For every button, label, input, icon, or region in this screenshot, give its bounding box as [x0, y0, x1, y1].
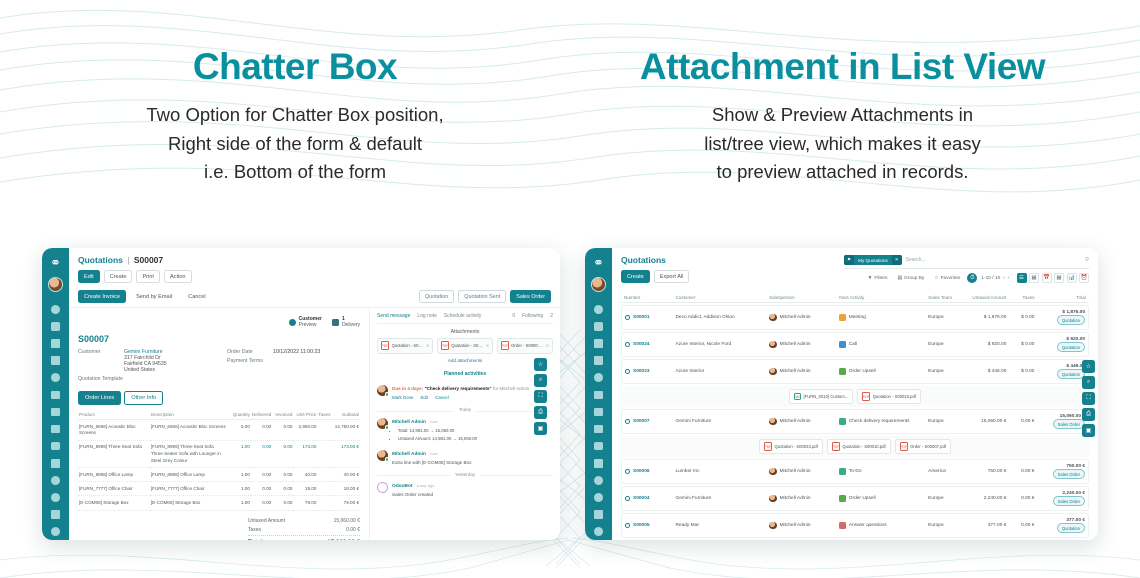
sidebar-icon-apps[interactable] — [51, 510, 60, 519]
tab-order-lines[interactable]: Order Lines — [78, 391, 121, 405]
attachment-chip[interactable]: PDF Quotation - S00023.pdf — [857, 389, 921, 404]
graph-view-icon[interactable]: 📊 — [1067, 273, 1077, 283]
row-number[interactable]: S00024 — [633, 342, 650, 347]
activity-actions: Mark Done Edit Cancel — [392, 394, 529, 401]
row-number[interactable]: S00001 — [633, 315, 650, 320]
row-untaxed: $ 920.00 — [963, 332, 1010, 357]
line-delivered: 0.00 — [251, 468, 272, 482]
message-body: Extra line with [E-COM08] Storage Box — [392, 459, 471, 466]
activity-view-icon[interactable]: ⏰ — [1079, 273, 1089, 283]
attachment-name: Quotation - S00023.pdf — [775, 444, 818, 449]
row-team: Europe — [925, 513, 962, 538]
attachment-name: Order - S00007.pdf — [511, 343, 543, 348]
row-checkbox[interactable] — [625, 523, 630, 528]
followers-count[interactable]: 0 — [512, 313, 515, 319]
customer-preview-smart-button[interactable]: Customer Preview — [289, 316, 322, 328]
todo-icon — [839, 468, 846, 475]
customer-address-line3: United States — [124, 367, 167, 373]
export-all-button[interactable]: Export All — [654, 270, 690, 283]
row-taxes: $ 0.00 — [1009, 305, 1037, 330]
grid-icon[interactable]: ▣ — [534, 422, 547, 435]
close-icon[interactable]: ✕ — [426, 343, 429, 348]
sidebar-icon-crm[interactable] — [51, 408, 60, 417]
sidebar-icon-recruitment[interactable] — [594, 493, 603, 502]
favorite-icon[interactable]: ☆ — [534, 358, 547, 371]
line-unit-price: 2,950.00 — [293, 420, 317, 441]
col-next-activity[interactable]: Next Activity — [836, 293, 925, 303]
field-quotation-template: Quotation Template — [78, 376, 211, 382]
field-customer: Customer Gemini Furniture 317 Fairchild … — [78, 349, 211, 373]
floating-action-buttons-right: ☆ ⌕ ⛶ ⎙ ▣ — [1082, 360, 1095, 437]
table-row[interactable]: S00004 Gemini Furniture Mitchell Admin O… — [621, 486, 1089, 511]
row-total-cell: 377.00 € Quotation — [1037, 513, 1089, 538]
row-salesperson-cell: Mitchell Admin — [766, 486, 836, 511]
row-checkbox[interactable] — [625, 369, 630, 374]
untaxed-amount-value: 15,060.00 € — [334, 518, 360, 524]
line-delivered: 0.00 — [251, 496, 272, 510]
list-toolbar: ▼ Filters ▤ Group By ☆ Favorites ⏱ 1-10 … — [844, 273, 1089, 283]
row-number[interactable]: S00005 — [633, 523, 650, 528]
activity-summary: "Check delivery requirements" — [424, 386, 491, 391]
sidebar-icon-settings[interactable] — [51, 527, 60, 536]
sidebar-icon-home[interactable] — [594, 305, 603, 314]
table-row[interactable]: [E-COM08] Storage Box [E-COM08] Storage … — [78, 496, 360, 510]
row-salesperson: Mitchell Admin — [780, 342, 811, 347]
call-icon — [839, 341, 846, 348]
row-activity-cell: Order Upsell — [836, 359, 925, 384]
line-subtotal: 173.00 € — [328, 441, 360, 468]
day-label: Today — [454, 407, 476, 412]
close-icon[interactable]: ✕ — [892, 255, 902, 265]
app-sidebar-right[interactable]: ⚭ — [585, 248, 612, 540]
sidebar-icon-settings[interactable] — [594, 527, 603, 536]
order-date-value[interactable]: 10/12/2022 11:00:23 — [273, 349, 320, 355]
order-lines-header-row: Product Description Quantity Delivered I… — [78, 409, 360, 420]
row-salesperson: Mitchell Admin — [780, 469, 811, 474]
sidebar-icon-crm[interactable] — [594, 408, 603, 417]
col-description[interactable]: Description — [150, 409, 230, 420]
row-untaxed: 377.00 € — [963, 513, 1010, 538]
avatar — [377, 418, 388, 429]
line-taxes — [317, 496, 328, 510]
attachment-chip[interactable]: PDF Order - S00007.pdf ✕ — [497, 338, 553, 354]
row-activity-cell: Check delivery requirements — [836, 409, 925, 434]
row-team: America — [925, 459, 962, 484]
clipboard-icon — [839, 418, 846, 425]
row-activity-cell: Order Upsell — [836, 486, 925, 511]
row-taxes: 0.00 € — [1009, 409, 1037, 434]
row-salesperson-cell: Mitchell Admin — [766, 459, 836, 484]
schedule-activity-button[interactable]: Schedule activity — [444, 313, 482, 319]
status-quotation-sent[interactable]: Quotation Sent — [458, 290, 506, 303]
row-checkbox[interactable] — [625, 496, 630, 501]
right-subtitle: Show & Preview Attachments in list/tree … — [585, 87, 1100, 187]
row-team: Europe — [925, 486, 962, 511]
tab-other-info[interactable]: Other Info — [124, 391, 163, 405]
user-avatar[interactable] — [591, 277, 606, 292]
pager-range[interactable]: 1-10 / 10 — [981, 276, 1000, 281]
upsell-icon — [839, 495, 846, 502]
activity-clock-icon[interactable]: ⏱ — [967, 273, 977, 283]
pager-prev-icon[interactable]: ‹ — [1003, 276, 1005, 281]
fullscreen-icon[interactable]: ⛶ — [534, 390, 547, 403]
customer-preview-icon — [289, 319, 296, 326]
sidebar-icon-recruitment[interactable] — [51, 493, 60, 502]
row-activity: Order Upsell — [849, 496, 876, 501]
total-label: Total — [248, 539, 262, 540]
attachment-cell: PDF Quotation - S00023.pdf PDF Quotation… — [621, 436, 1089, 457]
row-number-cell: S00023 — [621, 359, 672, 384]
fullscreen-icon[interactable]: ⛶ — [1082, 392, 1095, 405]
line-subtotal: 79.00 € — [328, 496, 360, 510]
col-total-status[interactable]: Total — [1037, 293, 1089, 303]
row-salesperson: Mitchell Admin — [780, 496, 811, 501]
sidebar-icon-home[interactable] — [51, 305, 60, 314]
row-activity: Check delivery requirements — [849, 419, 910, 424]
send-message-button[interactable]: Send message — [377, 313, 410, 319]
row-number-cell: S00024 — [621, 332, 672, 357]
col-sales-team[interactable]: Sales Team — [925, 293, 962, 303]
line-quantity: 5.00 — [230, 420, 251, 441]
user-avatar[interactable] — [48, 277, 63, 292]
planned-activities-title: Planned activities — [377, 371, 553, 377]
close-icon[interactable]: ✕ — [546, 343, 549, 348]
table-row[interactable]: S00001 Deco Addict, Addison Olson Mitche… — [621, 305, 1089, 330]
followers-number[interactable]: 2 — [550, 313, 553, 319]
line-taxes — [317, 420, 328, 441]
sidebar-icon-employees[interactable] — [51, 476, 60, 485]
group-icon: ▤ — [897, 276, 902, 281]
delivery-icon — [332, 319, 339, 326]
order-totals: Untaxed Amount 15,060.00 € Taxes 0.00 € … — [78, 517, 360, 541]
line-quantity: 1.00 — [230, 482, 251, 496]
attachment-name: [FURN_0010] Custom... — [804, 394, 849, 399]
pivot-view-icon[interactable]: ▦ — [1054, 273, 1064, 283]
table-row[interactable]: S00005 Ready Mat Mitchell Admin Answer q… — [621, 513, 1089, 538]
message-bullets: Total: 14,981.00 → 15,060.00 Untaxed Amo… — [398, 427, 477, 442]
avatar — [769, 495, 777, 503]
col-taxes[interactable]: Taxes — [1009, 293, 1037, 303]
status-sales-order[interactable]: Sales Order — [510, 290, 551, 303]
pdf-icon: PDF — [441, 341, 449, 350]
following-button[interactable]: Following — [522, 313, 543, 319]
sheet-and-chatter: Customer Preview 1 Delivery S00007 Custo… — [69, 308, 560, 540]
list-scroll-area[interactable]: Number Customer Salesperson Next Activit… — [612, 287, 1098, 540]
row-number[interactable]: S00023 — [633, 369, 650, 374]
status-dot-icon — [385, 392, 390, 397]
table-row[interactable]: S00023 Azure Interior Mitchell Admin Ord… — [621, 359, 1089, 384]
form-screenshot-window: ⚭ Quotations | S00007 Edit Create Print … — [42, 248, 560, 540]
row-activity: Answer questions — [849, 523, 887, 528]
col-number[interactable]: Number — [621, 293, 672, 303]
sidebar-icon-apps[interactable] — [594, 510, 603, 519]
row-checkbox[interactable] — [625, 342, 630, 347]
sidebar-icon-invoicing[interactable] — [594, 339, 603, 348]
grid-icon[interactable]: ▣ — [1082, 424, 1095, 437]
attachment-chip[interactable]: PDF Quotation - S00023.pdf — [759, 439, 823, 454]
calendar-view-icon[interactable]: 📅 — [1042, 273, 1052, 283]
kanban-view-icon[interactable]: ▦ — [1029, 273, 1039, 283]
row-number-cell: S00006 — [621, 459, 672, 484]
avatar — [769, 341, 777, 349]
breadcrumb-parent[interactable]: Quotations — [78, 255, 123, 265]
col-taxes[interactable]: Taxes — [317, 409, 328, 420]
col-product[interactable]: Product — [78, 409, 150, 420]
untaxed-amount-row: Untaxed Amount 15,060.00 € — [248, 517, 360, 526]
filters-label: Filters — [874, 276, 887, 281]
log-note-button[interactable]: Log note — [417, 313, 436, 319]
sidebar-icon-timesheets[interactable] — [594, 442, 603, 451]
action-button[interactable]: Action — [164, 270, 192, 283]
sidebar-icon-purchase[interactable] — [594, 373, 603, 382]
activity-assignee: for Mitchell Admin — [493, 386, 529, 391]
sidebar-icon-projects[interactable] — [51, 425, 60, 434]
search-and-toolbar: ⚑ My Quotations ✕ Search... ⚲ ▼ Filters … — [844, 255, 1089, 283]
attachment-chip[interactable]: PDF Quotation - S00023.pdf ✕ — [377, 338, 433, 354]
quotation-template-label: Quotation Template — [78, 376, 123, 382]
row-untaxed: 2,240.00 € — [963, 486, 1010, 511]
sidebar-icon-projects[interactable] — [594, 425, 603, 434]
chatter-message: Mitchell Admin now Total: 14,981.00 → 15… — [377, 418, 553, 442]
row-team: Europe — [925, 305, 962, 330]
notebook-tabs: Order Lines Other Info — [78, 391, 360, 405]
sidebar-icon-sales[interactable] — [51, 322, 60, 331]
row-customer: Azure Interior, Nicole Ford — [672, 332, 766, 357]
row-taxes: $ 0.00 — [1009, 332, 1037, 357]
row-customer: Azure Interior — [672, 359, 766, 384]
total-value: 15,060.00 € — [327, 539, 360, 540]
search-icon[interactable]: ⚲ — [1085, 257, 1089, 263]
create-button[interactable]: Create — [621, 270, 650, 283]
col-delivered[interactable]: Delivered — [251, 409, 272, 420]
row-activity: To-Do — [849, 469, 862, 474]
pdf-icon: PDF — [764, 442, 772, 451]
sidebar-icon-manufacturing[interactable] — [594, 391, 603, 400]
status-dot-icon — [385, 457, 390, 462]
attachments-title: Attachments — [377, 329, 553, 335]
pager-next-icon[interactable]: › — [1008, 276, 1010, 281]
delivery-smart-button[interactable]: 1 Delivery — [332, 316, 360, 328]
row-untaxed: $ 446.00 — [963, 359, 1010, 384]
edit-activity-button[interactable]: Edit — [420, 394, 428, 401]
left-title: Chatter Box — [40, 0, 550, 87]
table-row[interactable]: S00006 Lumber Inc Mitchell Admin To-Do A… — [621, 459, 1089, 484]
row-total-cell: 750.00 € Sales Order — [1037, 459, 1089, 484]
breadcrumb-separator: | — [127, 255, 129, 265]
edit-button[interactable]: Edit — [78, 270, 100, 283]
bot-avatar — [377, 482, 388, 493]
app-sidebar-left[interactable]: ⚭ — [42, 248, 69, 540]
avatar — [769, 418, 777, 426]
order-date-label: Order Date — [227, 349, 273, 355]
sidebar-icon-sales[interactable] — [594, 322, 603, 331]
chatter-message: OdooBot a day ago Sales Order created — [377, 482, 553, 498]
table-row[interactable]: S00024 Azure Interior, Nicole Ford Mitch… — [621, 332, 1089, 357]
quotations-table: Number Customer Salesperson Next Activit… — [621, 291, 1089, 540]
image-icon: IMG — [794, 393, 801, 401]
status-badge: Quotation — [1057, 369, 1085, 379]
attachment-chip[interactable]: PDF Order - S00007.pdf — [895, 439, 951, 454]
print-icon[interactable]: ⎙ — [1082, 408, 1095, 421]
sidebar-icon-employees[interactable] — [594, 476, 603, 485]
row-checkbox[interactable] — [625, 315, 630, 320]
pdf-icon: PDF — [381, 341, 389, 350]
message-time: now — [430, 419, 437, 424]
attachment-cell: IMG [FURN_0010] Custom... PDF Quotation … — [621, 386, 1089, 407]
row-number[interactable]: S00006 — [633, 469, 650, 474]
attachment-chip[interactable]: PDF Quotation - S00010.pdf ✕ — [437, 338, 493, 354]
create-button[interactable]: Create — [104, 270, 133, 283]
filter-icon: ▼ — [868, 276, 873, 281]
close-icon[interactable]: ✕ — [486, 343, 489, 348]
search-bar[interactable]: ⚑ My Quotations ✕ Search... ⚲ — [844, 255, 1089, 269]
table-row[interactable]: [FURN_8888] Office Lamp [FURN_8888] Offi… — [78, 468, 360, 482]
col-subtotal[interactable]: Subtotal — [328, 409, 360, 420]
row-total-cell: $ 920.00 Quotation — [1037, 332, 1089, 357]
right-heading-block: Attachment in List View Show & Preview A… — [585, 0, 1100, 187]
thread-day-separator: Yesterday — [377, 475, 553, 476]
message-time: a day ago — [417, 483, 435, 488]
attachment-chip[interactable]: PDF Quotation - S00010.pdf — [827, 439, 891, 454]
table-row[interactable]: [FURN_6666] Acoustic Bloc Screens [FURN_… — [78, 420, 360, 441]
view-switcher: ☰ ▦ 📅 ▦ 📊 ⏰ — [1017, 273, 1090, 283]
search-icon[interactable]: ⌕ — [534, 374, 547, 387]
order-lines-table: Product Description Quantity Delivered I… — [78, 409, 360, 510]
attachment-chip-list: PDF Quotation - S00023.pdf ✕ PDF Quotati… — [377, 338, 553, 354]
row-untaxed: 15,060.00 € — [963, 409, 1010, 434]
favorites-label: Favorites — [941, 276, 961, 281]
cancel-activity-button[interactable]: Cancel — [435, 394, 449, 401]
row-number-cell: S00007 — [621, 409, 672, 434]
search-icon[interactable]: ⌕ — [1082, 376, 1095, 389]
line-description: [E-COM08] Storage Box — [150, 496, 230, 510]
attachment-name: Quotation - S00023.pdf — [392, 343, 424, 348]
row-untaxed: $ 1,876.00 — [963, 305, 1010, 330]
mark-done-button[interactable]: Mark Done — [392, 394, 413, 401]
delivery-label: Delivery — [342, 322, 360, 328]
message-author: OdooBot — [392, 484, 413, 489]
favorites-button[interactable]: ☆ Favorites — [931, 274, 963, 282]
col-untaxed-amount[interactable]: Untaxed Amount — [963, 293, 1010, 303]
row-activity-cell: To-Do — [836, 459, 925, 484]
sidebar-icon-timesheets[interactable] — [51, 442, 60, 451]
search-facet[interactable]: ⚑ My Quotations ✕ — [844, 255, 902, 265]
col-salesperson[interactable]: Salesperson — [766, 293, 836, 303]
table-row[interactable]: [FURN_7777] Office Chair [FURN_7777] Off… — [78, 482, 360, 496]
col-quantity[interactable]: Quantity — [230, 409, 251, 420]
attachment-name: Quotation - S00010.pdf — [842, 444, 885, 449]
status-badge: Sales Order — [1053, 469, 1085, 479]
sidebar-icon-inventory[interactable] — [594, 356, 603, 365]
form-fields-right-column: Order Date 10/12/2022 11:00:23 Payment T… — [227, 349, 360, 384]
list-screenshot-window: ⚭ Quotations Create Export All — [585, 248, 1098, 540]
col-invoiced[interactable]: Invoiced — [272, 409, 293, 420]
message-bullet: Untaxed Amount: 14,981.00 → 15,060.00 — [398, 435, 477, 442]
table-row[interactable]: S00007 Gemini Furniture Mitchell Admin C… — [621, 409, 1089, 434]
filters-button[interactable]: ▼ Filters — [865, 274, 891, 282]
add-attachments-button[interactable]: Add attachments — [377, 358, 553, 363]
list-view-icon[interactable]: ☰ — [1017, 273, 1027, 283]
row-activity: Order Upsell — [849, 369, 876, 374]
payment-terms-label: Payment Terms — [227, 358, 273, 364]
row-number[interactable]: S00007 — [633, 419, 650, 424]
field-order-date: Order Date 10/12/2022 11:00:23 — [227, 349, 360, 355]
col-unit-price[interactable]: Unit Price — [293, 409, 317, 420]
send-by-email-button[interactable]: Send by Email — [130, 290, 178, 303]
sidebar-icon-expenses[interactable] — [594, 459, 603, 468]
print-button[interactable]: Print — [136, 270, 160, 283]
line-subtotal: 40.00 € — [328, 468, 360, 482]
line-product: [FURN_8888] Office Lamp — [78, 468, 150, 482]
row-checkbox[interactable] — [625, 419, 630, 424]
row-attachments: IMG [FURN_0010] Custom... PDF Quotation … — [621, 386, 1089, 407]
field-payment-terms: Payment Terms — [227, 358, 360, 364]
status-badge: Quotation — [1057, 342, 1085, 352]
taxes-row: Taxes 0.00 € — [248, 526, 360, 535]
row-salesperson-cell: Mitchell Admin — [766, 359, 836, 384]
row-customer: Gemini Furniture — [672, 409, 766, 434]
row-activity-cell: Answer questions — [836, 513, 925, 538]
row-team: Europe — [925, 332, 962, 357]
line-delivered: 0.00 — [251, 420, 272, 441]
customer-preview-label: Preview — [299, 322, 317, 328]
message-bullet: Total: 14,981.00 → 15,060.00 — [398, 427, 477, 434]
breadcrumb: Quotations | S00007 — [69, 248, 560, 265]
group-by-button[interactable]: ▤ Group By — [894, 274, 927, 282]
sidebar-icon-invoicing[interactable] — [51, 339, 60, 348]
form-control-buttons: Edit Create Print Action — [69, 265, 560, 287]
col-customer[interactable]: Customer — [672, 293, 766, 303]
taxes-value: 0.00 € — [346, 527, 360, 533]
message-body: Sales Order created — [392, 491, 434, 498]
favorite-icon[interactable]: ☆ — [1082, 360, 1095, 373]
line-description: [FURN_7777] Office Chair — [150, 482, 230, 496]
attachment-chip[interactable]: IMG [FURN_0010] Custom... — [789, 389, 853, 404]
sidebar-icon-inventory[interactable] — [51, 356, 60, 365]
sidebar-icon-expenses[interactable] — [51, 459, 60, 468]
page-title: Quotations — [621, 255, 698, 265]
create-invoice-button[interactable]: Create Invoice — [78, 290, 126, 303]
list-header: Quotations Create Export All ⚑ My Quotat… — [612, 248, 1098, 287]
row-activity-cell: Call — [836, 332, 925, 357]
avatar — [377, 385, 388, 396]
pdf-icon: PDF — [832, 442, 840, 451]
row-salesperson: Mitchell Admin — [780, 315, 811, 320]
cancel-button[interactable]: Cancel — [182, 290, 211, 303]
table-header-row: Number Customer Salesperson Next Activit… — [621, 293, 1089, 303]
sidebar-icon-manufacturing[interactable] — [51, 391, 60, 400]
row-customer: Ready Mat — [672, 513, 766, 538]
line-taxes — [317, 468, 328, 482]
row-taxes: 0.00 € — [1009, 486, 1037, 511]
line-invoiced: 0.00 — [272, 420, 293, 441]
form-fields: Customer Gemini Furniture 317 Fairchild … — [78, 349, 360, 384]
taxes-label: Taxes — [248, 527, 261, 533]
row-salesperson-cell: Mitchell Admin — [766, 409, 836, 434]
customer-value[interactable]: Gemini Furniture 317 Fairchild Dr Fairfi… — [124, 349, 167, 373]
print-icon[interactable]: ⎙ — [534, 406, 547, 419]
activity-due: Due in 4 days: — [392, 386, 423, 391]
line-invoiced: 0.00 — [272, 441, 293, 468]
row-number[interactable]: S00004 — [633, 496, 650, 501]
row-checkbox[interactable] — [625, 469, 630, 474]
line-delivered: 0.00 — [251, 441, 272, 468]
search-input[interactable]: Search... — [906, 257, 1081, 263]
table-row[interactable]: [FURN_8999] Three-Seat Sofa [FURN_8999] … — [78, 441, 360, 468]
status-quotation[interactable]: Quotation — [419, 290, 454, 303]
row-customer: Deco Addict, Addison Olson — [672, 305, 766, 330]
sidebar-icon-purchase[interactable] — [51, 373, 60, 382]
